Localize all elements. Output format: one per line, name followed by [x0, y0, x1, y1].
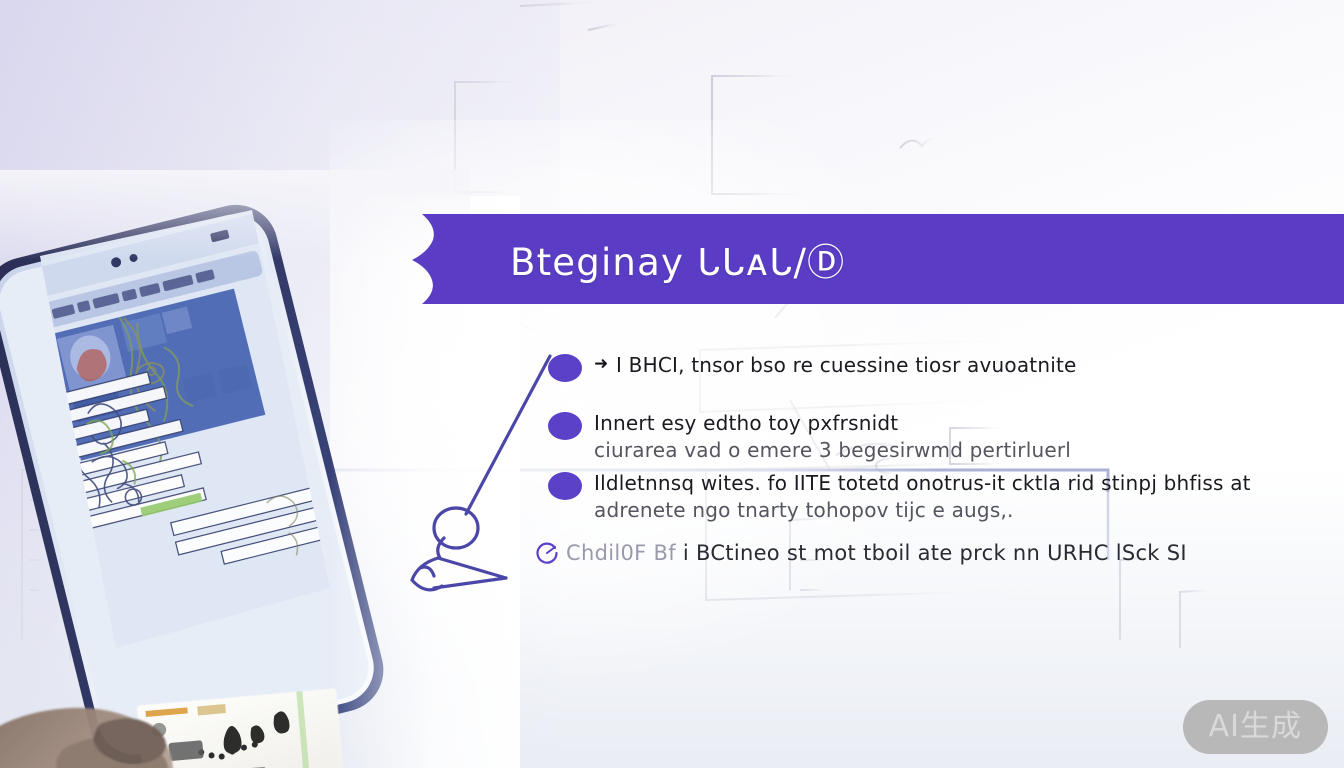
- circular-arrow-icon: [534, 540, 560, 566]
- footnote-main-text: i BCtineo st mot tboil ate prck nn URᕼC …: [683, 541, 1187, 565]
- footnote-text: Chdil0F Bf i BCtineo st mot tboil ate pr…: [566, 540, 1187, 566]
- bullet-line: adrenete ngo tnarty tohopov tijc e augs,…: [594, 497, 1251, 524]
- footnote-dim-text: Chdil0F Bf: [566, 541, 676, 565]
- list-item[interactable]: Innert esy edtho toy pxfrsnidt ciurarea …: [548, 408, 1308, 464]
- bullet-line: Innert esy edtho toy pxfrsnidt: [594, 410, 1071, 437]
- title-banner: Bteginay ᒐᒐᴀᒐ/Ⓓ: [406, 214, 1344, 304]
- list-item[interactable]: ➜ I BHCI, tnsor bso re cuessine tiosr av…: [548, 350, 1308, 382]
- footnote-row[interactable]: Chdil0F Bf i BCtineo st mot tboil ate pr…: [534, 540, 1187, 566]
- bullet-dot-icon: [548, 472, 582, 500]
- ai-generated-watermark: AI生成: [1183, 700, 1328, 754]
- poster-canvas: Bteginay ᒐᒐᴀᒐ/Ⓓ ➜ I BHCI, tnsor bso re c…: [0, 0, 1344, 768]
- bullet-line: I BHCI, tnsor bso re cuessine tiosr avuo…: [594, 352, 1077, 379]
- bullet-list: ➜ I BHCI, tnsor bso re cuessine tiosr av…: [548, 350, 1308, 524]
- bullet-text-block: Ildletnnsq wites. fo IITE totetd onotrus…: [594, 468, 1251, 524]
- bullet-text-block: ➜ I BHCI, tnsor bso re cuessine tiosr av…: [594, 350, 1077, 379]
- bullet-text-block: Innert esy edtho toy pxfrsnidt ciurarea …: [594, 408, 1071, 464]
- bullet-line: ciurarea vad o emere 3 begesirwmd pertir…: [594, 437, 1071, 464]
- bullet-dot-icon: [548, 354, 582, 382]
- bullet-dot-icon: [548, 412, 582, 440]
- list-item[interactable]: Ildletnnsq wites. fo IITE totetd onotrus…: [548, 468, 1308, 524]
- bullet-line: Ildletnnsq wites. fo IITE totetd onotrus…: [594, 470, 1251, 497]
- banner-title-text: Bteginay ᒐᒐᴀᒐ/Ⓓ: [510, 214, 845, 304]
- arrow-marker-icon: ➜: [594, 356, 610, 372]
